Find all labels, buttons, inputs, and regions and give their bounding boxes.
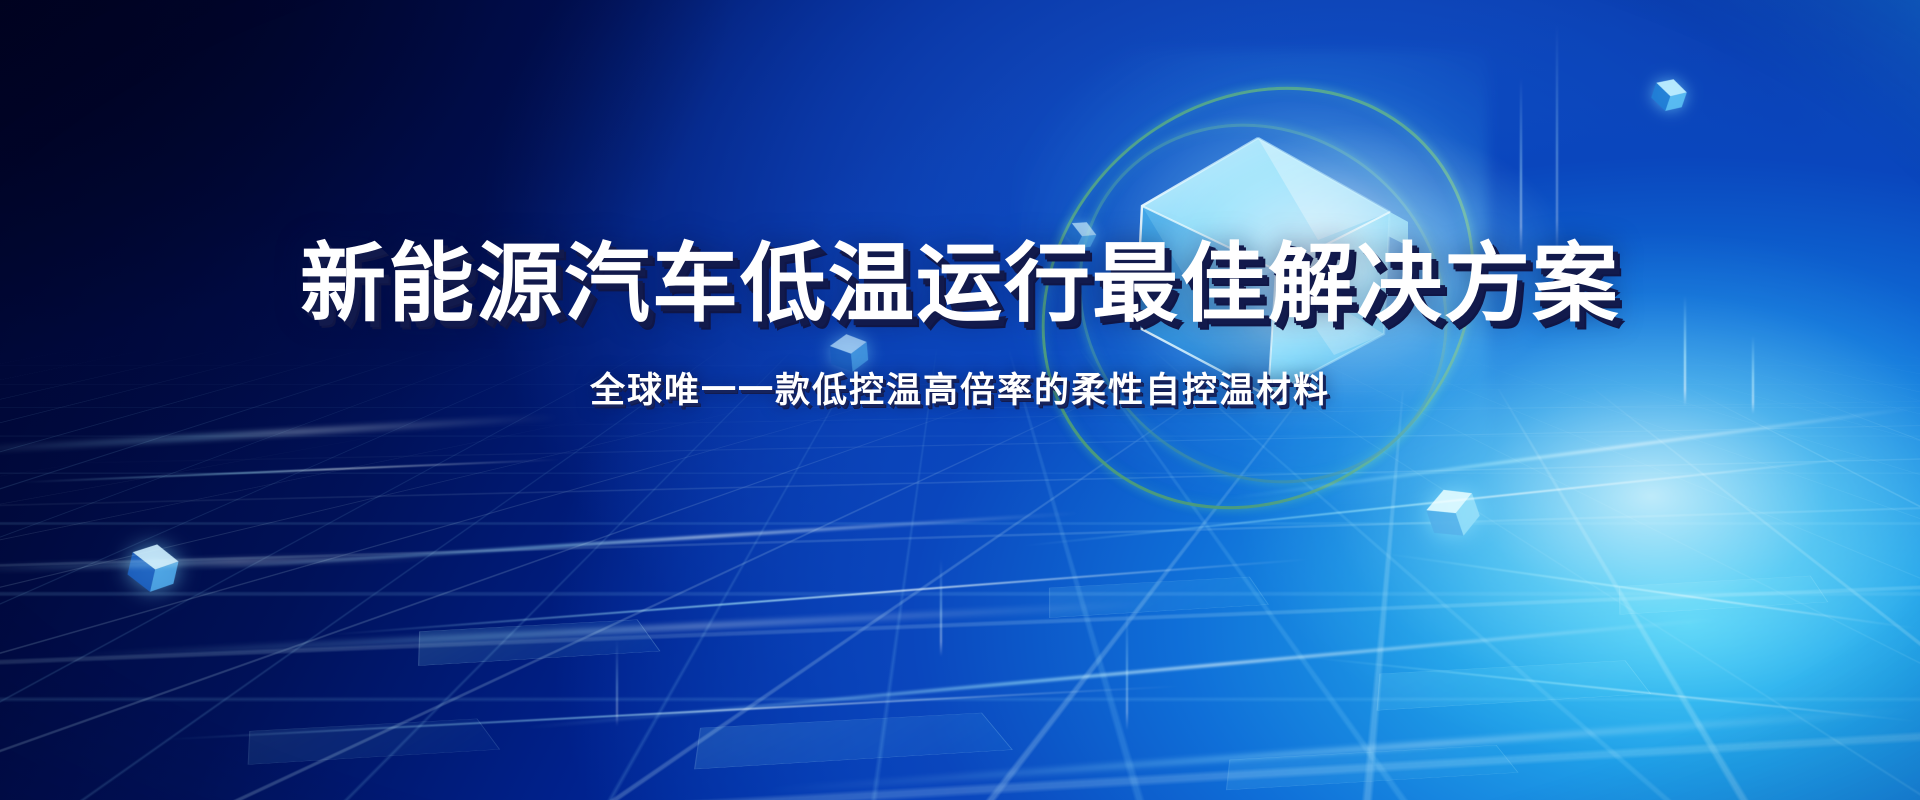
banner-text-block: 新能源汽车低温运行最佳解决方案 全球唯一一款低控温高倍率的柔性自控温材料	[0, 236, 1920, 413]
banner-subtitle: 全球唯一一款低控温高倍率的柔性自控温材料	[0, 362, 1920, 413]
hero-banner: 新能源汽车低温运行最佳解决方案 全球唯一一款低控温高倍率的柔性自控温材料	[0, 0, 1920, 800]
banner-title: 新能源汽车低温运行最佳解决方案	[0, 236, 1920, 332]
